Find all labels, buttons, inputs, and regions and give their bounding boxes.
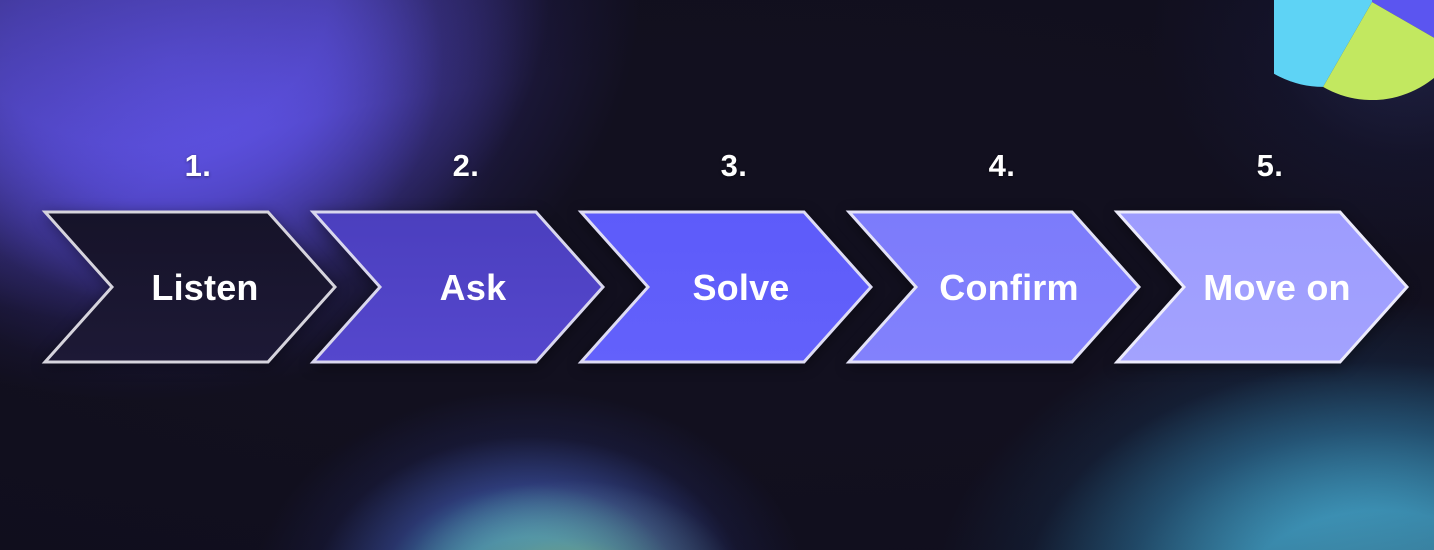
chevron-svg-5 [1113,208,1417,366]
step-number-1: 1. [41,150,341,181]
chevron-path-4[interactable] [849,212,1139,362]
step-number-5: 5. [1113,150,1413,181]
process-step-4[interactable]: 4.Confirm [845,150,1145,380]
chevron-shape-1[interactable] [41,208,341,368]
chevron-path-2[interactable] [313,212,603,362]
step-number-4: 4. [845,150,1145,181]
process-step-5[interactable]: 5.Move on [1113,150,1413,380]
slide-canvas: 1.Listen2.Ask3.Solve4.Confirm5.Move on [0,0,1434,550]
chevron-svg-4 [845,208,1149,366]
step-number-3: 3. [577,150,877,181]
corner-pie-graphic [1274,0,1434,100]
chevron-path-5[interactable] [1117,212,1407,362]
chevron-shape-2[interactable] [309,208,609,368]
process-step-1[interactable]: 1.Listen [41,150,341,380]
chevron-svg-1 [41,208,345,366]
chevron-shape-3[interactable] [577,208,877,368]
bottom-center-green-glow [400,480,740,550]
process-step-3[interactable]: 3.Solve [577,150,877,380]
chevron-svg-3 [577,208,881,366]
chevron-shape-4[interactable] [845,208,1145,368]
step-number-2: 2. [309,150,609,181]
chevron-path-3[interactable] [581,212,871,362]
chevron-shape-5[interactable] [1113,208,1413,368]
bottom-center-cyan-glow [250,390,810,550]
process-step-2[interactable]: 2.Ask [309,150,609,380]
chevron-path-1[interactable] [45,212,335,362]
chevron-svg-2 [309,208,613,366]
process-chevron-row: 1.Listen2.Ask3.Solve4.Confirm5.Move on [0,150,1434,380]
